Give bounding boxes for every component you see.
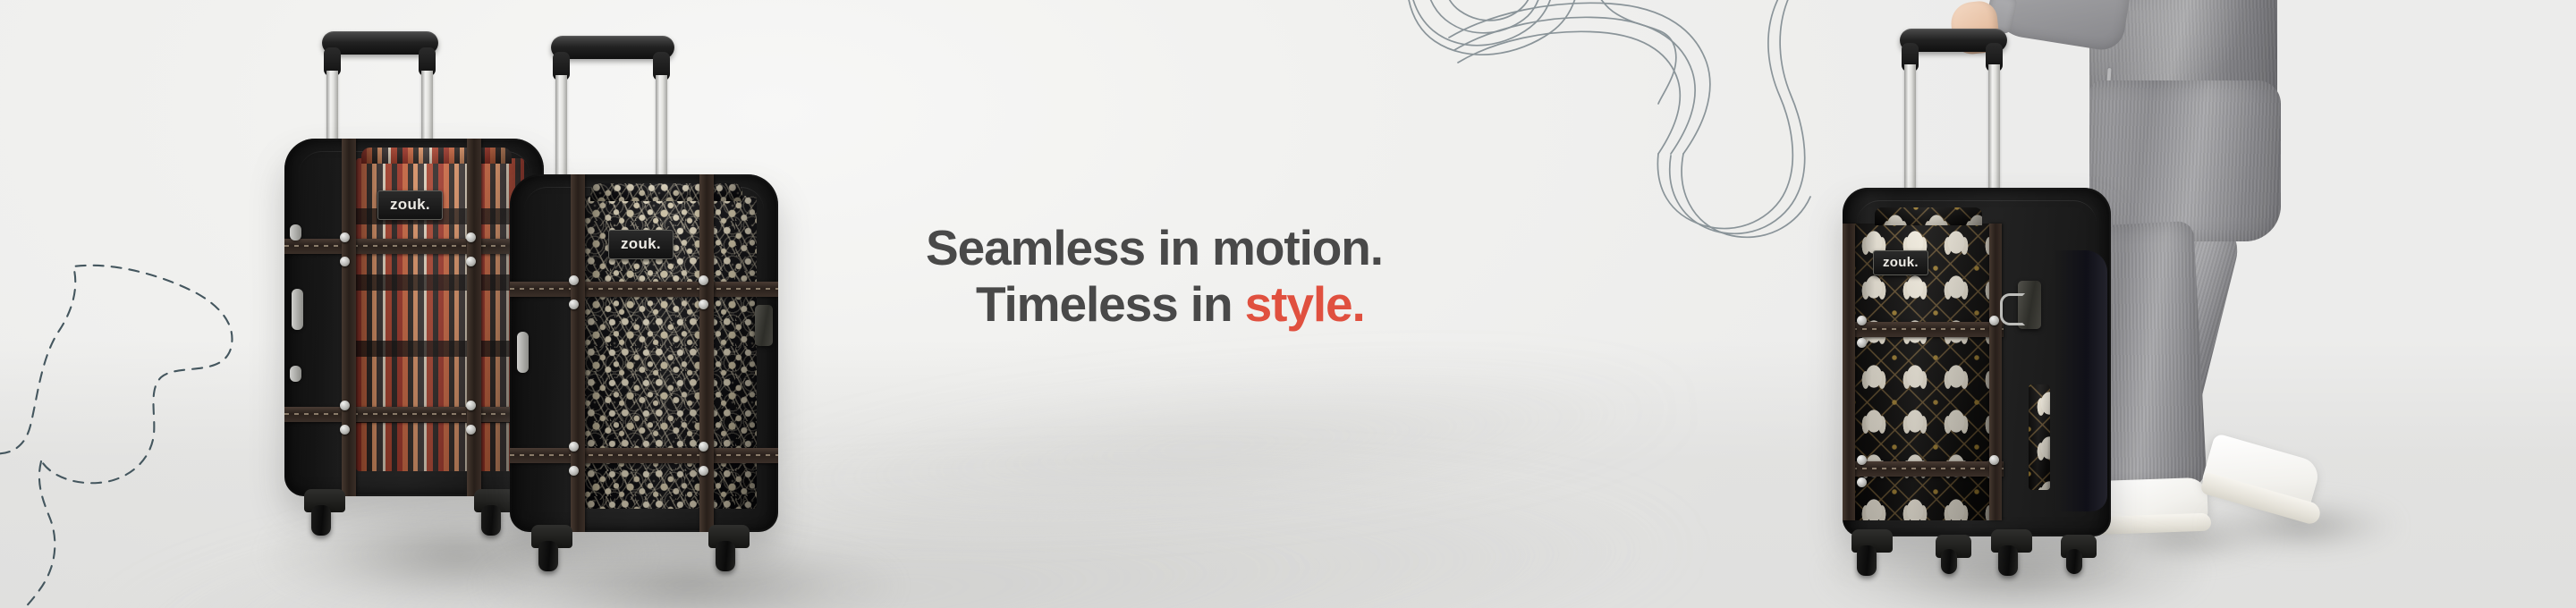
trouser-hip bbox=[2089, 80, 2281, 241]
handle-pole-right bbox=[1988, 64, 2000, 193]
hero-banner: zouk. bbox=[0, 0, 2576, 608]
handle-pole-left bbox=[555, 75, 567, 179]
leather-strap-lower bbox=[284, 407, 544, 422]
rivet bbox=[340, 401, 350, 410]
leather-strap-upper bbox=[284, 239, 544, 254]
product-lotus-print-cabin-suitcase[interactable]: zouk. bbox=[1843, 188, 2111, 536]
rivet bbox=[466, 425, 476, 435]
product-kilim-print-trolley-suitcase[interactable]: zouk. bbox=[284, 139, 544, 496]
rivet bbox=[699, 442, 708, 452]
rivet bbox=[1857, 338, 1867, 348]
headline-accent-word: style. bbox=[1245, 276, 1365, 332]
side-grab-handle[interactable] bbox=[292, 289, 303, 330]
rivet bbox=[466, 232, 476, 242]
rivet bbox=[569, 300, 579, 309]
rivet bbox=[1989, 455, 1999, 465]
topographic-contour-lines bbox=[1360, 0, 1825, 250]
expansion-gusset bbox=[2055, 250, 2107, 511]
rivet bbox=[699, 466, 708, 476]
handle-pole-right bbox=[421, 71, 433, 144]
print-side-strip bbox=[2029, 384, 2050, 490]
suitcase-shell: zouk. bbox=[284, 139, 544, 496]
rivet bbox=[340, 425, 350, 435]
print-trim-top bbox=[361, 148, 512, 164]
rivet bbox=[699, 300, 708, 309]
trolley-handle-floral[interactable] bbox=[531, 36, 764, 177]
suitcase-shell: zouk. bbox=[510, 174, 778, 532]
handle-pole-left bbox=[1904, 64, 1916, 193]
rivet bbox=[466, 401, 476, 410]
rivet bbox=[340, 232, 350, 242]
side-grab-handle[interactable] bbox=[517, 332, 529, 373]
spinner-wheel-front-left bbox=[1857, 545, 1877, 576]
leather-strap-vertical-left bbox=[571, 174, 585, 532]
trolley-handle-lotus[interactable] bbox=[1884, 29, 2116, 191]
headline-line-1: Seamless in motion. bbox=[926, 220, 1383, 275]
spinner-wheel-front-left bbox=[311, 505, 331, 536]
spinner-wheel-front-right bbox=[1998, 545, 2018, 576]
headline-line-2: Timeless in style. bbox=[926, 276, 1820, 333]
leather-strap-upper bbox=[510, 282, 778, 297]
spinner-wheel-front-right bbox=[481, 505, 501, 536]
leather-strap-vertical-right bbox=[467, 139, 481, 496]
rivet bbox=[569, 442, 579, 452]
page-title: Seamless in motion. Timeless in style. bbox=[926, 220, 1820, 332]
rivet bbox=[1857, 477, 1867, 487]
brand-label-kilim: zouk. bbox=[377, 190, 443, 220]
headline-line-2-plain: Timeless in bbox=[976, 276, 1245, 332]
brand-label-lotus: zouk. bbox=[1873, 250, 1928, 275]
spinner-wheel-front-right bbox=[716, 541, 735, 571]
leather-strap-vertical-left bbox=[1843, 224, 1855, 520]
lock-shackle bbox=[2000, 293, 2025, 325]
rivet bbox=[1857, 316, 1867, 325]
spinner-wheel-front-left bbox=[538, 541, 558, 571]
rivet bbox=[699, 275, 708, 285]
spinner-wheel-rear-right bbox=[2066, 549, 2082, 574]
leather-strap-vertical-right bbox=[1989, 224, 2002, 520]
side-nub-lower bbox=[290, 366, 301, 382]
leather-strap-vertical-left bbox=[342, 139, 356, 496]
side-lock-floral[interactable] bbox=[755, 305, 773, 346]
rivet bbox=[569, 275, 579, 285]
leather-strap-lower bbox=[1843, 461, 2004, 477]
leather-strap-lower bbox=[510, 448, 778, 463]
leather-strap-upper bbox=[1843, 322, 2004, 337]
rivet bbox=[340, 257, 350, 266]
leather-strap-vertical-right bbox=[699, 174, 714, 532]
rivet bbox=[1989, 316, 1999, 325]
tsa-combination-lock[interactable] bbox=[2018, 281, 2041, 329]
handle-pole-left bbox=[326, 71, 338, 144]
print-trim-top bbox=[590, 183, 742, 201]
trolley-handle-kilim[interactable] bbox=[304, 31, 528, 140]
rivet bbox=[1857, 455, 1867, 465]
suitcase-shell: zouk. bbox=[1843, 188, 2111, 536]
spinner-wheel-rear-left bbox=[1941, 549, 1957, 574]
brand-label-floral: zouk. bbox=[608, 230, 674, 259]
product-floral-vine-print-trolley-suitcase[interactable]: zouk. bbox=[510, 174, 778, 532]
rivet bbox=[466, 257, 476, 266]
rivet bbox=[569, 466, 579, 476]
handle-pole-right bbox=[656, 75, 667, 179]
print-trim-top bbox=[1875, 207, 1982, 225]
side-nub-upper bbox=[290, 224, 301, 241]
